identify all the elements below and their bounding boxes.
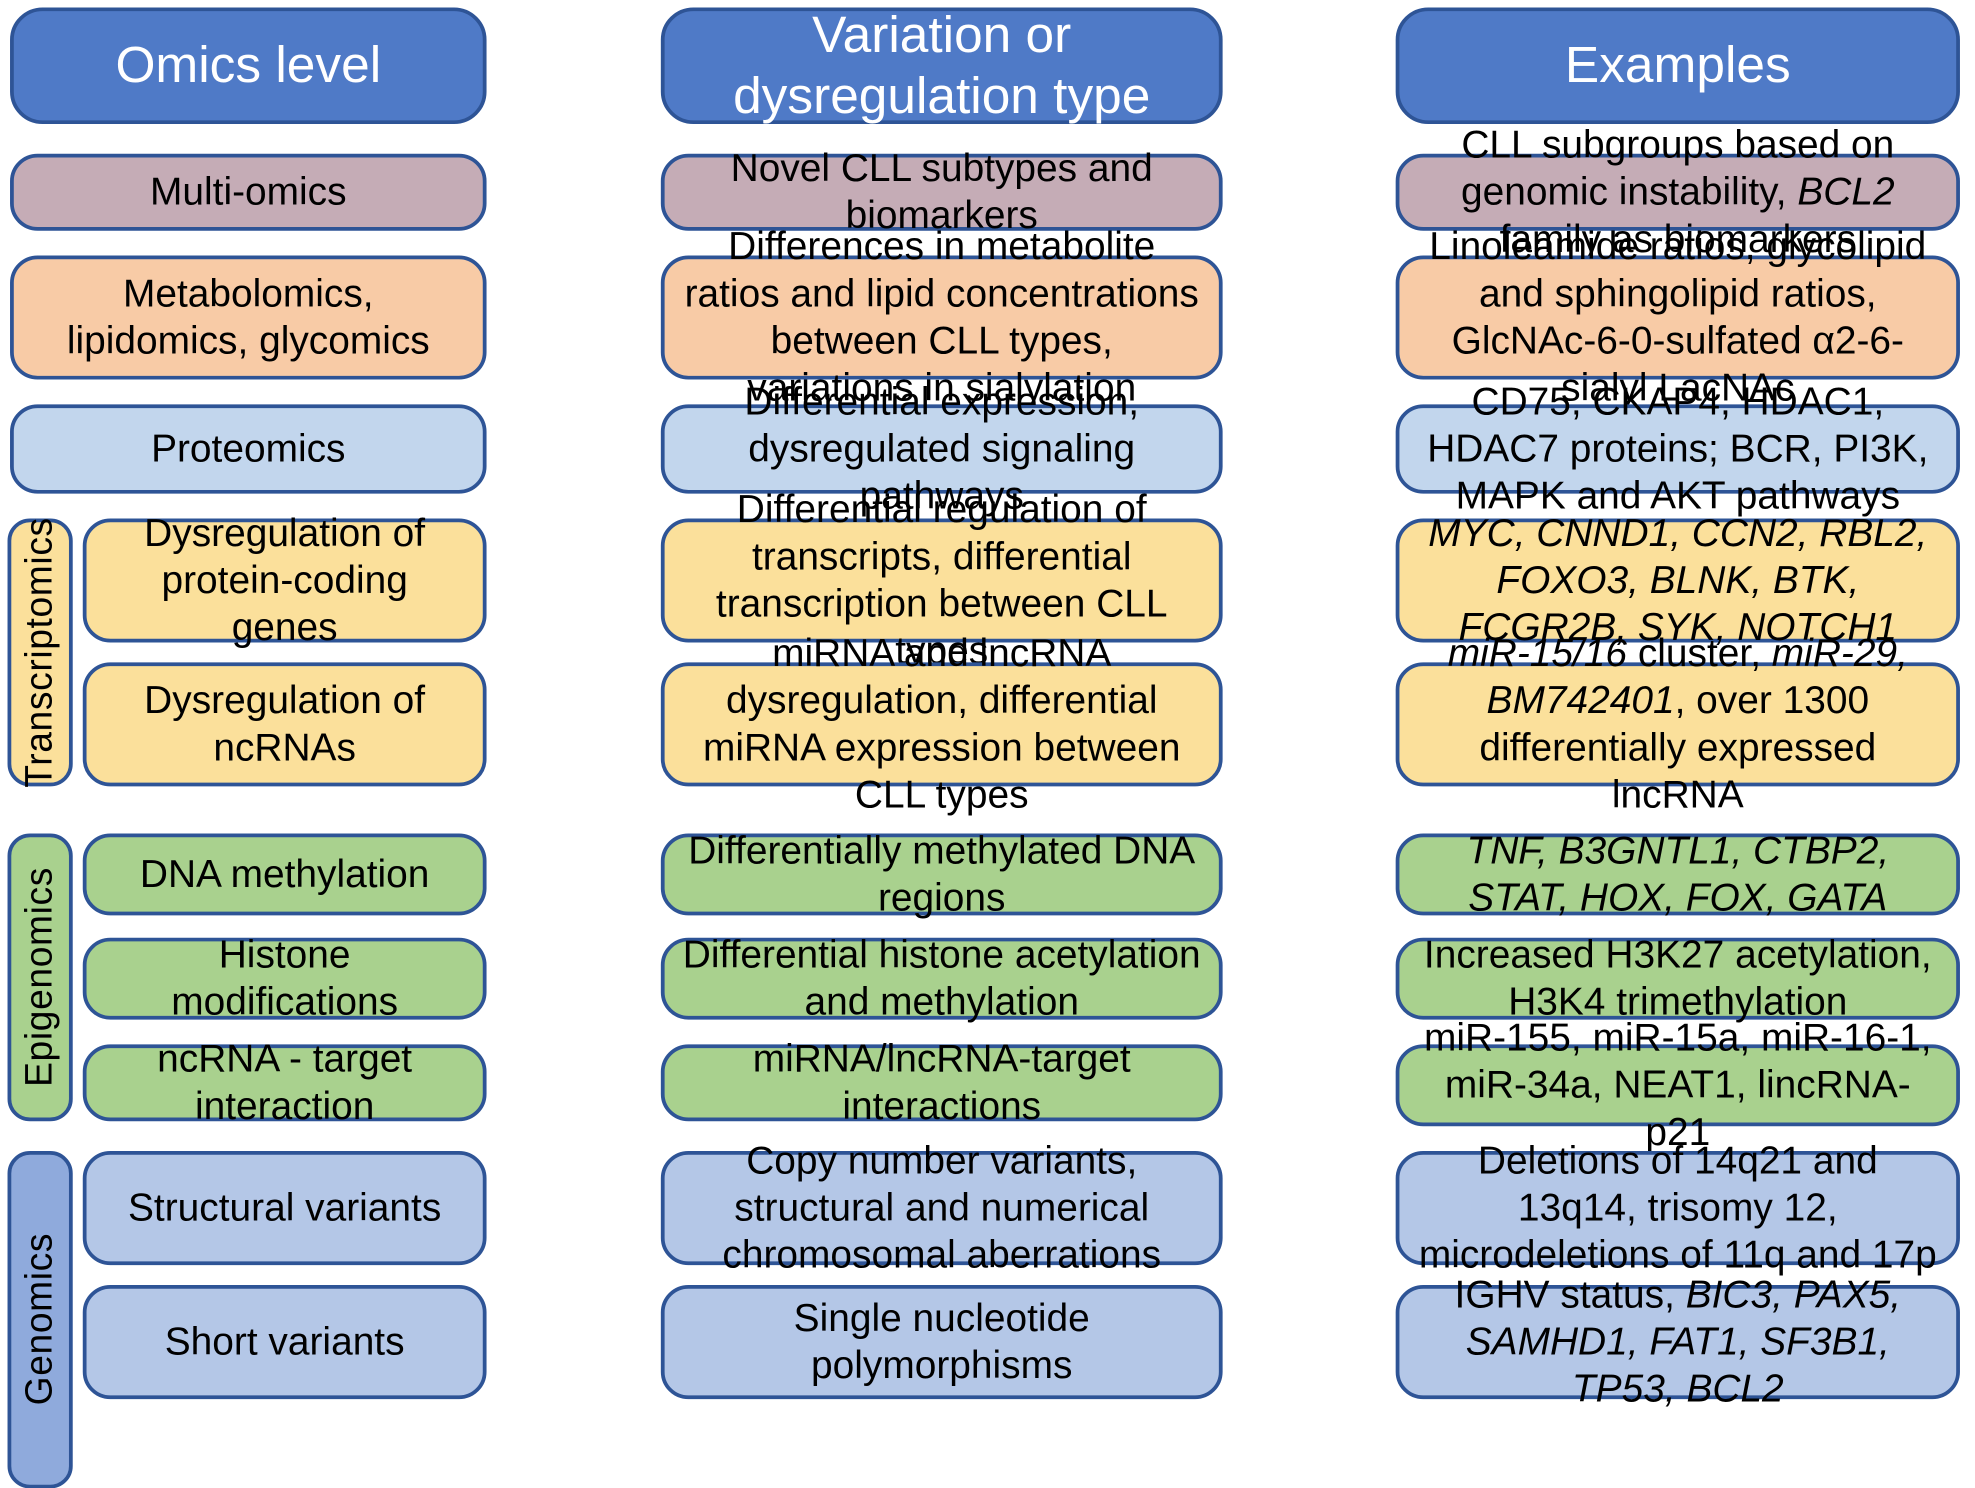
- cell-omics-level-short-variants: Short variants: [83, 1285, 487, 1399]
- cell-examples-metabolomics: Linoleamide ratios, glycolipid and sphin…: [1396, 256, 1960, 380]
- cell-examples-multi-omics: CLL subgroups based on genomic instabili…: [1396, 154, 1960, 231]
- cell-variation-ncrna-target-interaction: miRNA/lncRNA-target interactions: [661, 1044, 1223, 1121]
- cell-examples-ncrna-target-interaction: miR-155, miR-15a, miR-16-1, miR-34a, NEA…: [1396, 1044, 1960, 1126]
- cell-label: Differential histone acetylation and met…: [682, 932, 1201, 1026]
- cell-label: Increased H3K27 acetylation, H3K4 trimet…: [1417, 932, 1939, 1026]
- cell-label: Deletions of 14q21 and 13q14, trisomy 12…: [1417, 1138, 1939, 1279]
- cell-examples-dna-methylation: TNF, B3GNTL1, CTBP2, STAT, HOX, FOX, GAT…: [1396, 834, 1960, 916]
- cell-variation-dna-methylation: Differentially methylated DNA regions: [661, 834, 1223, 916]
- cell-label: ncRNA - target interaction: [104, 1036, 465, 1130]
- cell-variation-histone-modifications: Differential histone acetylation and met…: [661, 938, 1223, 1020]
- cell-label: Differentially methylated DNA regions: [682, 828, 1201, 922]
- cell-variation-short-variants: Single nucleotide polymorphisms: [661, 1285, 1223, 1399]
- cell-label: miRNA/lncRNA-target interactions: [682, 1036, 1201, 1130]
- header-variation-type: Variation or dysregulation type: [661, 7, 1223, 124]
- cell-omics-level-structural-variants: Structural variants: [83, 1151, 487, 1265]
- side-tab-label: Genomics: [19, 1233, 62, 1405]
- cell-label: Dysregulation of protein-coding genes: [104, 510, 465, 651]
- cell-label: Histone modifications: [104, 932, 465, 1026]
- cell-label: Multi-omics: [31, 169, 465, 216]
- cell-label: TNF, B3GNTL1, CTBP2, STAT, HOX, FOX, GAT…: [1417, 828, 1939, 922]
- cell-examples-ncrnas: miR-15/16 cluster, miR-29, BM742401, ove…: [1396, 662, 1960, 786]
- cell-omics-level-metabolomics: Metabolomics, lipidomics, glycomics: [10, 256, 487, 380]
- cell-examples-short-variants: IGHV status, BIC3, PAX5, SAMHD1, FAT1, S…: [1396, 1285, 1960, 1399]
- cell-omics-level-ncrnas: Dysregulation of ncRNAs: [83, 662, 487, 786]
- header-variation-type-label: Variation or dysregulation type: [682, 5, 1201, 127]
- omics-overview-diagram: Omics level Variation or dysregulation t…: [0, 0, 1975, 1414]
- side-tab-transcriptomics: Transcriptomics: [8, 518, 73, 786]
- cell-label: Dysregulation of ncRNAs: [104, 677, 465, 771]
- side-tab-label: Transcriptomics: [19, 517, 62, 788]
- cell-omics-level-dna-methylation: DNA methylation: [83, 834, 487, 916]
- cell-variation-ncrnas: miRNA and lncRNA dysregulation, differen…: [661, 662, 1223, 786]
- cell-label: miR-15/16 cluster, miR-29, BM742401, ove…: [1417, 631, 1939, 819]
- cell-label: Short variants: [104, 1319, 465, 1366]
- cell-examples-histone-modifications: Increased H3K27 acetylation, H3K4 trimet…: [1396, 938, 1960, 1020]
- header-examples: Examples: [1396, 7, 1960, 124]
- cell-omics-level-protein-coding-genes: Dysregulation of protein-coding genes: [83, 518, 487, 642]
- cell-label: miR-155, miR-15a, miR-16-1, miR-34a, NEA…: [1417, 1015, 1939, 1156]
- header-omics-level: Omics level: [10, 7, 487, 124]
- cell-label: miRNA and lncRNA dysregulation, differen…: [682, 631, 1201, 819]
- cell-label: Structural variants: [104, 1185, 465, 1232]
- side-tab-epigenomics: Epigenomics: [8, 834, 73, 1122]
- cell-examples-proteomics: CD75, CKAP4, HDAC1, HDAC7 proteins; BCR,…: [1396, 404, 1960, 493]
- cell-label: Proteomics: [31, 426, 465, 473]
- header-examples-label: Examples: [1417, 35, 1939, 96]
- cell-omics-level-multi-omics: Multi-omics: [10, 154, 487, 231]
- cell-label: CD75, CKAP4, HDAC1, HDAC7 proteins; BCR,…: [1417, 379, 1939, 520]
- cell-variation-protein-coding-genes: Differential regulation of transcripts, …: [661, 518, 1223, 642]
- cell-label: Metabolomics, lipidomics, glycomics: [31, 271, 465, 365]
- header-omics-level-label: Omics level: [31, 35, 465, 96]
- cell-omics-level-proteomics: Proteomics: [10, 404, 487, 493]
- cell-variation-multi-omics: Novel CLL subtypes and biomarkers: [661, 154, 1223, 231]
- side-tab-genomics: Genomics: [8, 1151, 73, 1488]
- side-tab-label: Epigenomics: [19, 867, 62, 1087]
- cell-omics-level-histone-modifications: Histone modifications: [83, 938, 487, 1020]
- cell-variation-structural-variants: Copy number variants, structural and num…: [661, 1151, 1223, 1265]
- cell-variation-metabolomics: Differences in metabolite ratios and lip…: [661, 256, 1223, 380]
- cell-examples-structural-variants: Deletions of 14q21 and 13q14, trisomy 12…: [1396, 1151, 1960, 1265]
- cell-omics-level-ncrna-target-interaction: ncRNA - target interaction: [83, 1044, 487, 1121]
- cell-label: IGHV status, BIC3, PAX5, SAMHD1, FAT1, S…: [1417, 1272, 1939, 1413]
- cell-examples-protein-coding-genes: MYC, CNND1, CCN2, RBL2, FOXO3, BLNK, BTK…: [1396, 518, 1960, 642]
- cell-label: Copy number variants, structural and num…: [682, 1138, 1201, 1279]
- cell-label: DNA methylation: [104, 851, 465, 898]
- cell-label: Single nucleotide polymorphisms: [682, 1295, 1201, 1389]
- cell-variation-proteomics: Differential expression, dysregulated si…: [661, 404, 1223, 493]
